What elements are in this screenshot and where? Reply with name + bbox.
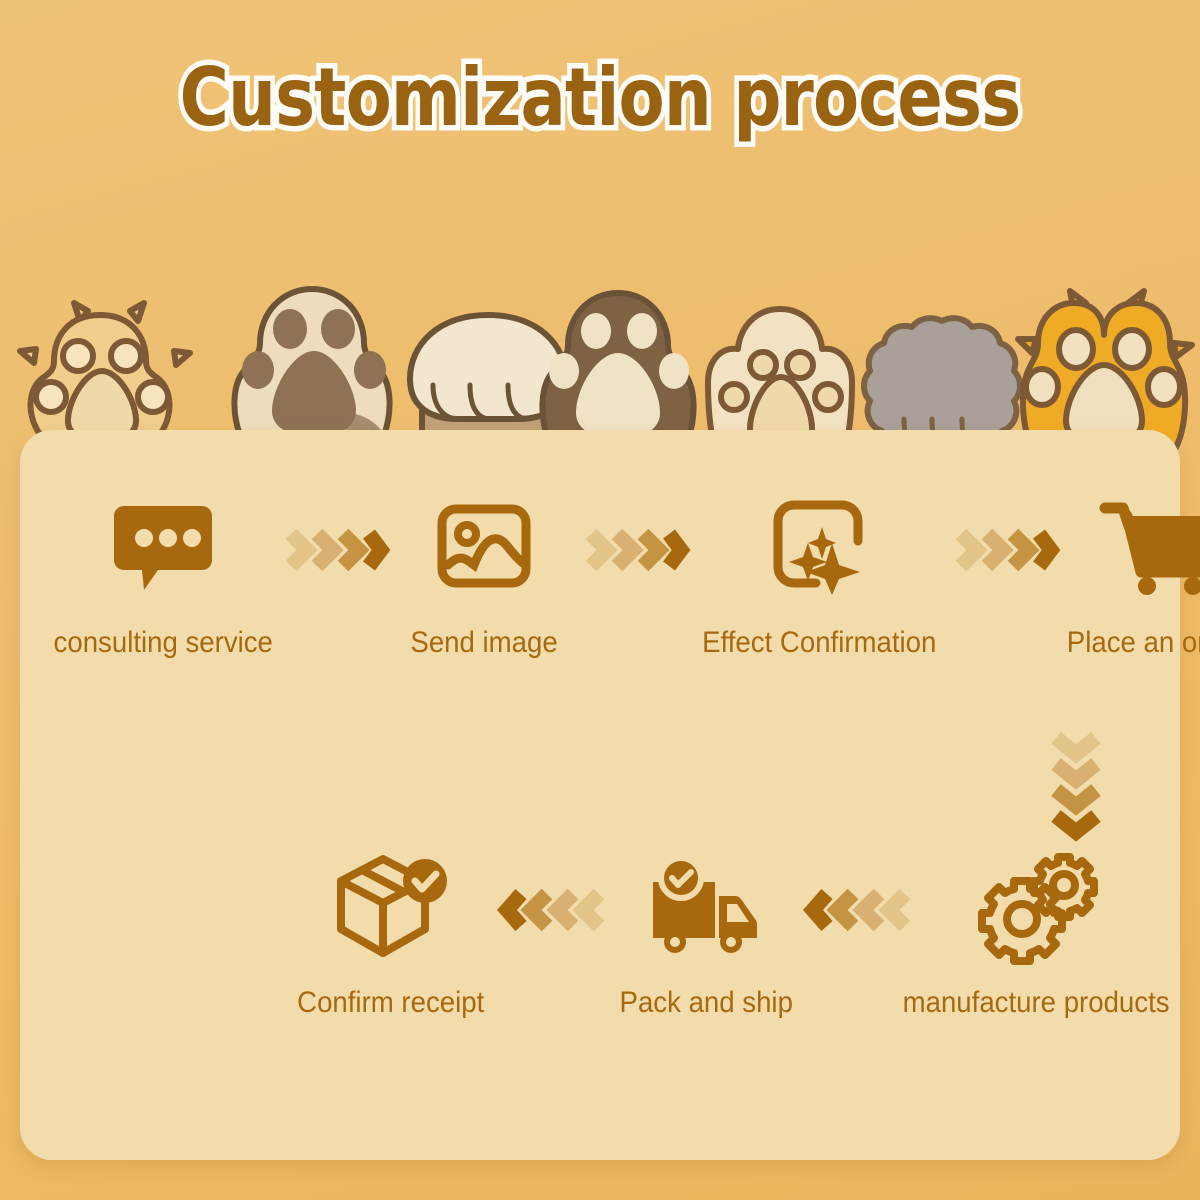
step-label: consulting service: [53, 626, 272, 660]
process-row-bottom: Confirm receipt: [282, 850, 1160, 1020]
page-title: Customization process: [96, 58, 1104, 138]
step-consulting-service[interactable]: consulting service: [42, 490, 284, 660]
step-confirm-receipt[interactable]: Confirm receipt: [282, 850, 500, 1020]
chevrons-left-icon: [500, 854, 606, 966]
step-manufacture-products[interactable]: manufacture products: [912, 850, 1160, 1020]
shopping-cart-icon: [1101, 490, 1200, 602]
sparkle-frame-icon: [770, 490, 868, 602]
step-pack-and-ship[interactable]: Pack and ship: [606, 850, 806, 1020]
delivery-truck-icon: [649, 850, 763, 962]
box-check-icon: [333, 850, 449, 962]
step-label: Place an order: [1067, 626, 1200, 660]
process-card: consulting service: [20, 430, 1180, 1160]
chevrons-right-icon: [284, 494, 384, 606]
process-row-top: consulting service: [42, 490, 1160, 660]
step-place-an-order[interactable]: Place an order: [1054, 490, 1200, 660]
step-effect-confirmation[interactable]: Effect Confirmation: [684, 490, 954, 660]
gears-icon: [978, 850, 1094, 962]
step-label: Effect Confirmation: [702, 626, 936, 660]
step-label: Send image: [410, 626, 557, 660]
chevrons-left-icon: [806, 854, 912, 966]
chevrons-down-icon: [1028, 726, 1124, 846]
image-icon: [436, 490, 532, 602]
step-label: Confirm receipt: [297, 986, 484, 1020]
step-label: manufacture products: [903, 986, 1170, 1020]
infographic-canvas: Customization process: [0, 0, 1200, 1200]
chevrons-right-icon: [954, 494, 1054, 606]
step-label: Pack and ship: [619, 986, 792, 1020]
chat-bubble-icon: [114, 490, 212, 602]
step-send-image[interactable]: Send image: [384, 490, 584, 660]
chevrons-right-icon: [584, 494, 684, 606]
